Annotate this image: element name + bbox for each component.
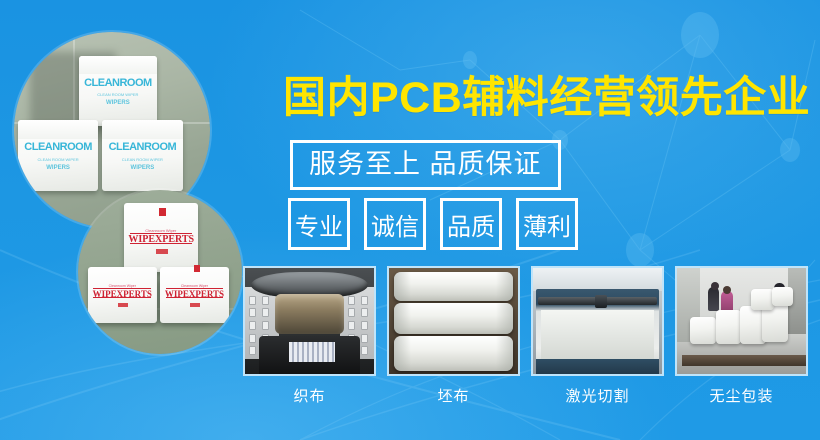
- feature-tag-list: 专业 诚信 品质 薄利: [288, 198, 578, 250]
- process-item-greige-fabric: 坯布: [387, 266, 520, 406]
- thumbnail-caption-laser-cutting: 激光切割: [531, 385, 664, 406]
- thumbnail-laser-cutting-image: [531, 266, 664, 376]
- process-item-cleanroom-packing: 无尘包装: [675, 266, 808, 406]
- thumbnail-weaving-image: [243, 266, 376, 376]
- feature-tag-zhuanye: 专业: [288, 198, 350, 250]
- process-item-laser-cutting: 激光切割: [531, 266, 664, 406]
- banner-subtitle: 服务至上 品质保证: [309, 148, 542, 180]
- promo-banner: CLEANROOM CLEAN ROOM WIPER WIPERS CLEANR…: [0, 0, 820, 440]
- process-item-weaving: 织布: [243, 266, 376, 406]
- feature-tag-chengxin: 诚信: [364, 198, 426, 250]
- thumbnail-caption-cleanroom-packing: 无尘包装: [675, 385, 808, 406]
- feature-tag-pinzhi: 品质: [440, 198, 502, 250]
- thumbnail-caption-weaving: 织布: [243, 385, 376, 406]
- banner-subtitle-box: 服务至上 品质保证: [290, 140, 561, 190]
- thumbnail-greige-fabric-image: [387, 266, 520, 376]
- feature-tag-baoli: 薄利: [516, 198, 578, 250]
- product-photo-wipexperts: Cleanroom Wiper WIPEXPERTS Cleanroom Wip…: [78, 190, 242, 354]
- thumbnail-cleanroom-packing-image: [675, 266, 808, 376]
- process-thumbnail-list: 织布 坯布 激光切割: [243, 266, 808, 406]
- banner-headline: 国内PCB辅料经营领先企业: [283, 72, 810, 124]
- thumbnail-caption-greige-fabric: 坯布: [387, 385, 520, 406]
